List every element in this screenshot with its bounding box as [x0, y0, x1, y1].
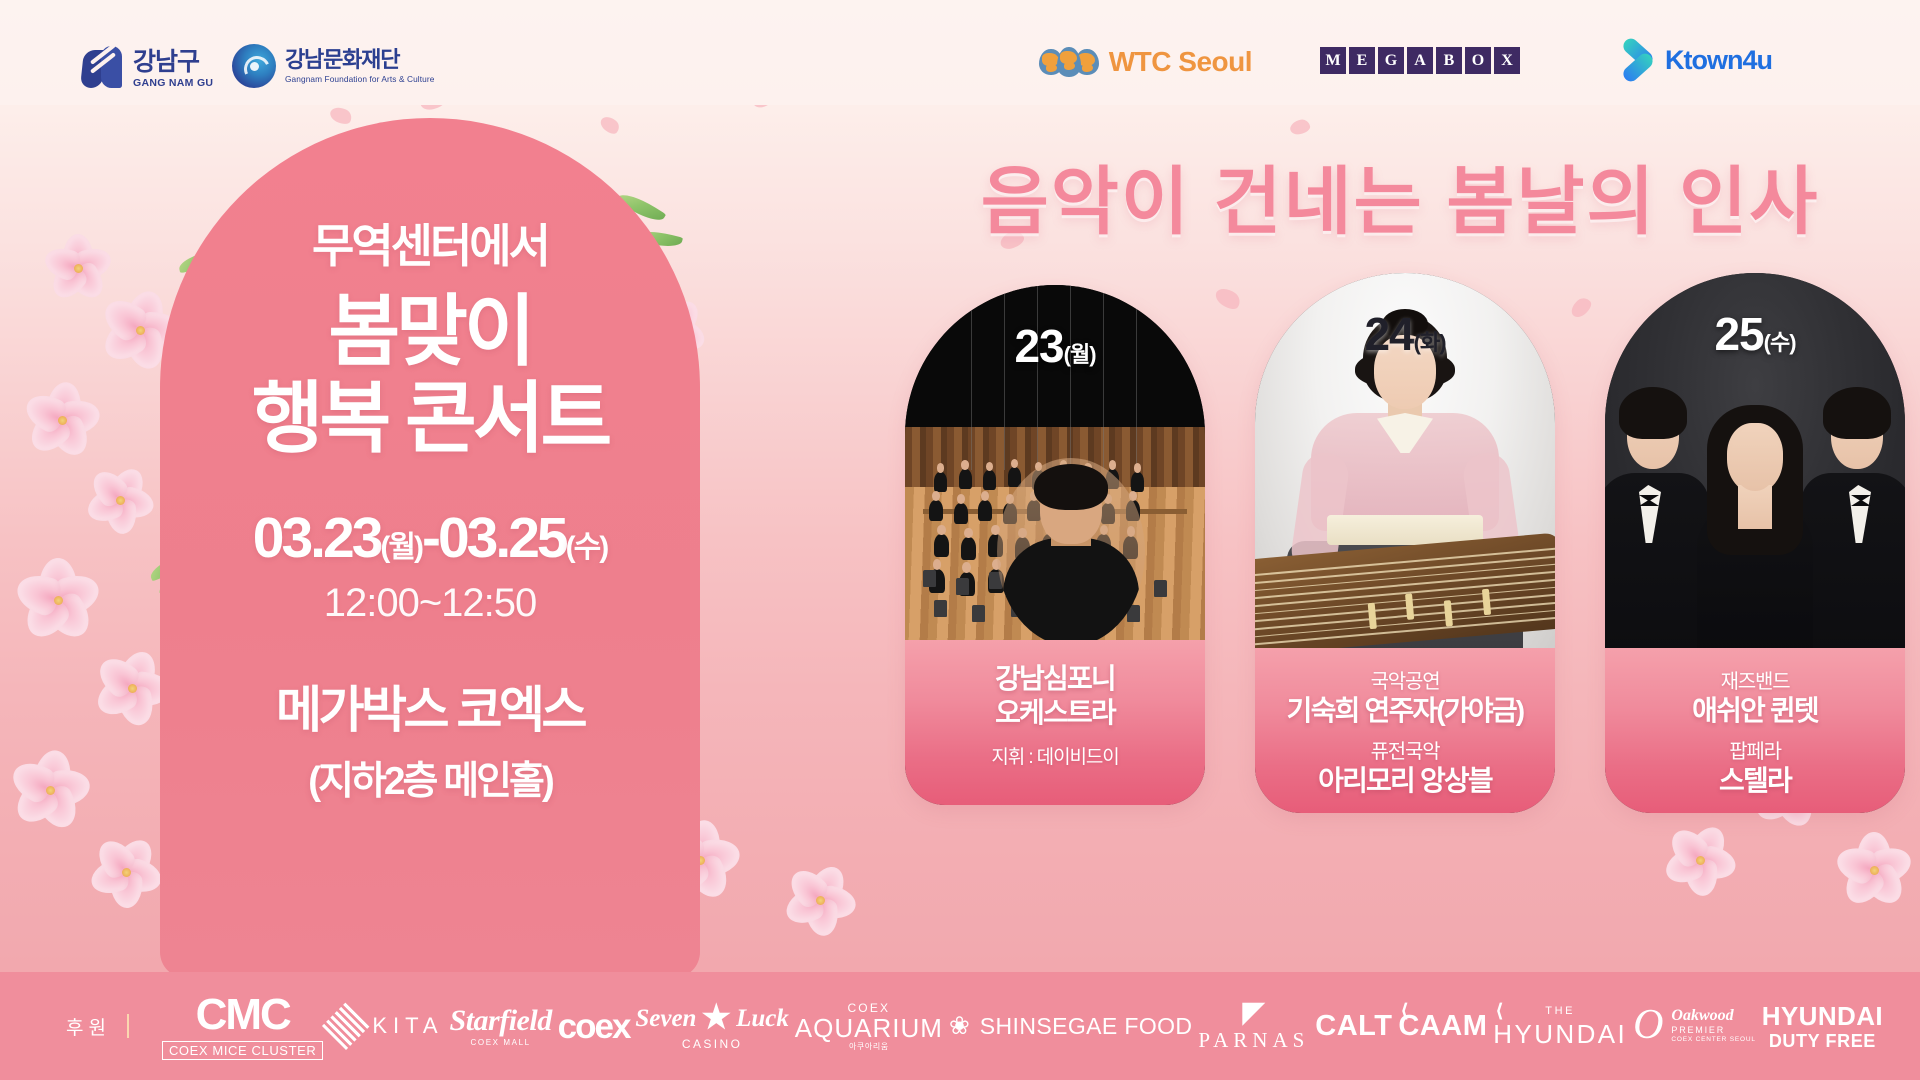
main-headline: 음악이 건네는 봄날의 인사 [900, 142, 1900, 249]
parnas-flag-icon: ◤ [1242, 1001, 1265, 1025]
megabox-letter: G [1378, 47, 1404, 74]
conductor-portrait-inset [997, 458, 1145, 640]
card-date-badge-25: 25(수) [1605, 307, 1905, 361]
wtc-globe-icon [1039, 47, 1099, 77]
performer-name-line1: 애쉬안 퀸텟 [1605, 694, 1905, 728]
sponsor-logo-coex-aquarium: COEX AQUARIUM 아쿠아리움 [795, 1002, 943, 1051]
sponsor-logo-cmc: CMC COEX MICE CLUSTER [162, 993, 323, 1060]
aquarium-coex-label: COEX [847, 1002, 890, 1014]
sponsor-logo-caam: CAAM⟨ [1398, 1012, 1487, 1041]
sponsor-logo-hyundai-duty-free: HYUNDAI DUTY FREE [1762, 1003, 1883, 1050]
seven-luck-word1: Seven [635, 1006, 696, 1031]
parnas-label: PARNAS [1198, 1030, 1309, 1051]
cmc-mark: CMC [196, 993, 290, 1037]
logo-wtc-seoul: WTC Seoul [1039, 46, 1252, 78]
megabox-letter: X [1494, 47, 1520, 74]
event-venue: 메가박스 코엑스 [160, 670, 700, 742]
card-date-badge-24: 24(화) [1255, 307, 1555, 361]
event-title-line2: 행복 콘서트 [160, 378, 700, 459]
megabox-letter: A [1407, 47, 1433, 74]
logo-gangnam-foundation: 강남문화재단 Gangnam Foundation for Arts & Cul… [232, 44, 434, 88]
card-day: 25 [1714, 308, 1763, 360]
card-caption-day25: 재즈밴드 애쉬안 퀸텟 팝페라 스텔라 [1605, 648, 1905, 813]
oakwood-premier-label: PREMIER [1671, 1026, 1725, 1035]
kita-diamond-icon [322, 1002, 370, 1050]
logo-megabox: M E G A B O X [1320, 47, 1520, 74]
card-day: 24 [1364, 308, 1413, 360]
date-end-dow: (수) [566, 531, 608, 564]
date-dash: - [422, 506, 438, 570]
performer-name-line1: 기숙희 연주자(가야금) [1255, 694, 1555, 728]
performance-card-day25[interactable]: 25(수) 재즈밴드 애쉬안 퀸텟 팝페라 스텔라 [1605, 273, 1905, 813]
genre-label-1: 국악공연 [1255, 670, 1555, 694]
card-day: 23 [1014, 320, 1063, 372]
sponsor-logo-starfield: Starfield COEX MALL [450, 1006, 552, 1047]
event-date-range: 03.23(월)-03.25(수) [160, 505, 700, 571]
sponsor-logo-coex: coex [558, 1009, 630, 1044]
header-logo-bar: 강남구 GANG NAM GU 강남문화재단 Gangnam Foundatio… [0, 0, 1920, 105]
megabox-letter: O [1465, 47, 1491, 74]
date-start-dow: (월) [380, 531, 422, 564]
sponsor-logo-calt: CALT⟨ [1315, 1012, 1392, 1041]
foundation-label-en: Gangnam Foundation for Arts & Culture [285, 75, 434, 83]
sponsor-logo-oakwood: O Oakwood PREMIER COEX CENTER SEOUL [1633, 1008, 1756, 1044]
sponsor-label-group: 후원 [66, 1013, 129, 1040]
megabox-letter: M [1320, 47, 1346, 74]
genre-label-2: 팝페라 [1605, 740, 1905, 764]
cmc-subtitle: COEX MICE CLUSTER [162, 1041, 323, 1060]
card-date-badge-23: 23(월) [905, 319, 1205, 373]
performance-card-list: 23(월) 강남심포니 오케스트라 지휘 : 데이비드이 [905, 285, 1905, 805]
sponsor-logo-kita: KITA [329, 1009, 443, 1043]
logo-gangnam-gu: 강남구 GANG NAM GU [82, 46, 213, 92]
megabox-letter: E [1349, 47, 1375, 74]
date-start: 03.23 [253, 506, 381, 570]
foundation-label-kr: 강남문화재단 [285, 49, 434, 71]
kita-label: KITA [372, 1015, 443, 1037]
gangnam-gu-label-en: GANG NAM GU [133, 78, 213, 89]
coex-mark: coex [558, 1009, 630, 1044]
sponsor-logo-parnas: ◤ PARNAS [1198, 1001, 1309, 1051]
calt-label: CALT [1315, 1010, 1392, 1042]
seven-luck-word2: Luck [736, 1006, 789, 1031]
oakwood-label: Oakwood [1671, 1008, 1733, 1024]
caam-label: CAAM [1398, 1010, 1487, 1042]
event-title-line1: 봄맞이 [160, 291, 700, 372]
card-caption-day23: 강남심포니 오케스트라 지휘 : 데이비드이 [905, 640, 1205, 805]
the-label: THE [1545, 1006, 1575, 1017]
sponsor-footer-bar: 후원 CMC COEX MICE CLUSTER KITA Starfield … [0, 972, 1920, 1080]
aquarium-subtitle: 아쿠아리움 [849, 1043, 889, 1051]
hyundai-label: HYUNDAI [1493, 1021, 1627, 1047]
card-dow: (월) [1064, 342, 1096, 367]
sponsor-logo-list: CMC COEX MICE CLUSTER KITA Starfield COE… [129, 993, 1920, 1060]
ktown4u-x-icon [1620, 42, 1656, 78]
megabox-letter: B [1436, 47, 1462, 74]
genre-label-1: 재즈밴드 [1605, 670, 1905, 694]
star-icon: ★ [701, 1002, 731, 1035]
ktown4u-label: Ktown4u [1665, 45, 1772, 76]
logo-ktown4u: Ktown4u [1620, 42, 1772, 78]
card-dow: (화) [1414, 330, 1446, 355]
caam-swoosh-icon: ⟨ [1495, 1002, 1504, 1021]
concert-poster: 강남구 GANG NAM GU 강남문화재단 Gangnam Foundatio… [0, 0, 1920, 1080]
card-dow: (수) [1764, 330, 1796, 355]
card-caption-day24: 국악공연 기숙희 연주자(가야금) 퓨전국악 아리모리 앙상블 [1255, 648, 1555, 813]
performance-card-day23[interactable]: 23(월) 강남심포니 오케스트라 지휘 : 데이비드이 [905, 285, 1205, 805]
performer-name-line2: 아리모리 앙상블 [1255, 764, 1555, 798]
gangnam-gu-label-kr: 강남구 [133, 50, 213, 75]
event-venue-detail: (지하2층 메인홀) [160, 750, 700, 806]
petal-icon [1289, 118, 1311, 136]
event-time: 12:00~12:50 [160, 581, 700, 626]
seven-luck-subtitle: CASINO [682, 1038, 742, 1050]
flower-icon: ❀ [949, 1014, 970, 1039]
gangnam-gu-mark-icon [82, 46, 124, 92]
sponsor-label: 후원 [66, 1013, 111, 1040]
starfield-mark: Starfield [450, 1006, 552, 1036]
starfield-subtitle: COEX MALL [471, 1039, 531, 1047]
performance-card-day24[interactable]: 24(화) 국악공연 기숙희 연주자(가야금) 퓨전국악 아리모리 앙상블 [1255, 273, 1555, 813]
conductor-credit: 지휘 : 데이비드이 [905, 742, 1205, 769]
performer-name-line1: 강남심포니 [905, 662, 1205, 696]
hyundai-duty-label: HYUNDAI [1762, 1003, 1883, 1029]
event-subtitle: 무역센터에서 [160, 223, 700, 271]
date-end: 03.25 [438, 506, 566, 570]
ceiling-wires-icon [905, 285, 1205, 470]
oakwood-location-label: COEX CENTER SEOUL [1671, 1037, 1755, 1044]
sponsor-logo-seven-luck: Seven ★ Luck CASINO [635, 1002, 788, 1050]
wtc-seoul-label: WTC Seoul [1109, 46, 1252, 78]
genre-label-2: 퓨전국악 [1255, 740, 1555, 764]
sponsor-logo-shinsegae-food: ❀ SHINSEGAE FOOD [949, 1014, 1193, 1039]
left-panel-text: 무역센터에서 봄맞이 행복 콘서트 03.23(월)-03.25(수) 12:0… [160, 118, 700, 978]
oakwood-o-icon: O [1633, 1008, 1663, 1044]
duty-free-label: DUTY FREE [1769, 1032, 1876, 1050]
aquarium-mark: AQUARIUM [795, 1015, 943, 1041]
shinsegae-food-label: SHINSEGAE FOOD [980, 1015, 1193, 1038]
performer-name-line2: 오케스트라 [905, 696, 1205, 730]
sponsor-logo-the-hyundai: THE HYUNDAI [1493, 1006, 1627, 1047]
foundation-spiral-icon [232, 44, 276, 88]
performer-name-line2: 스텔라 [1605, 764, 1905, 798]
